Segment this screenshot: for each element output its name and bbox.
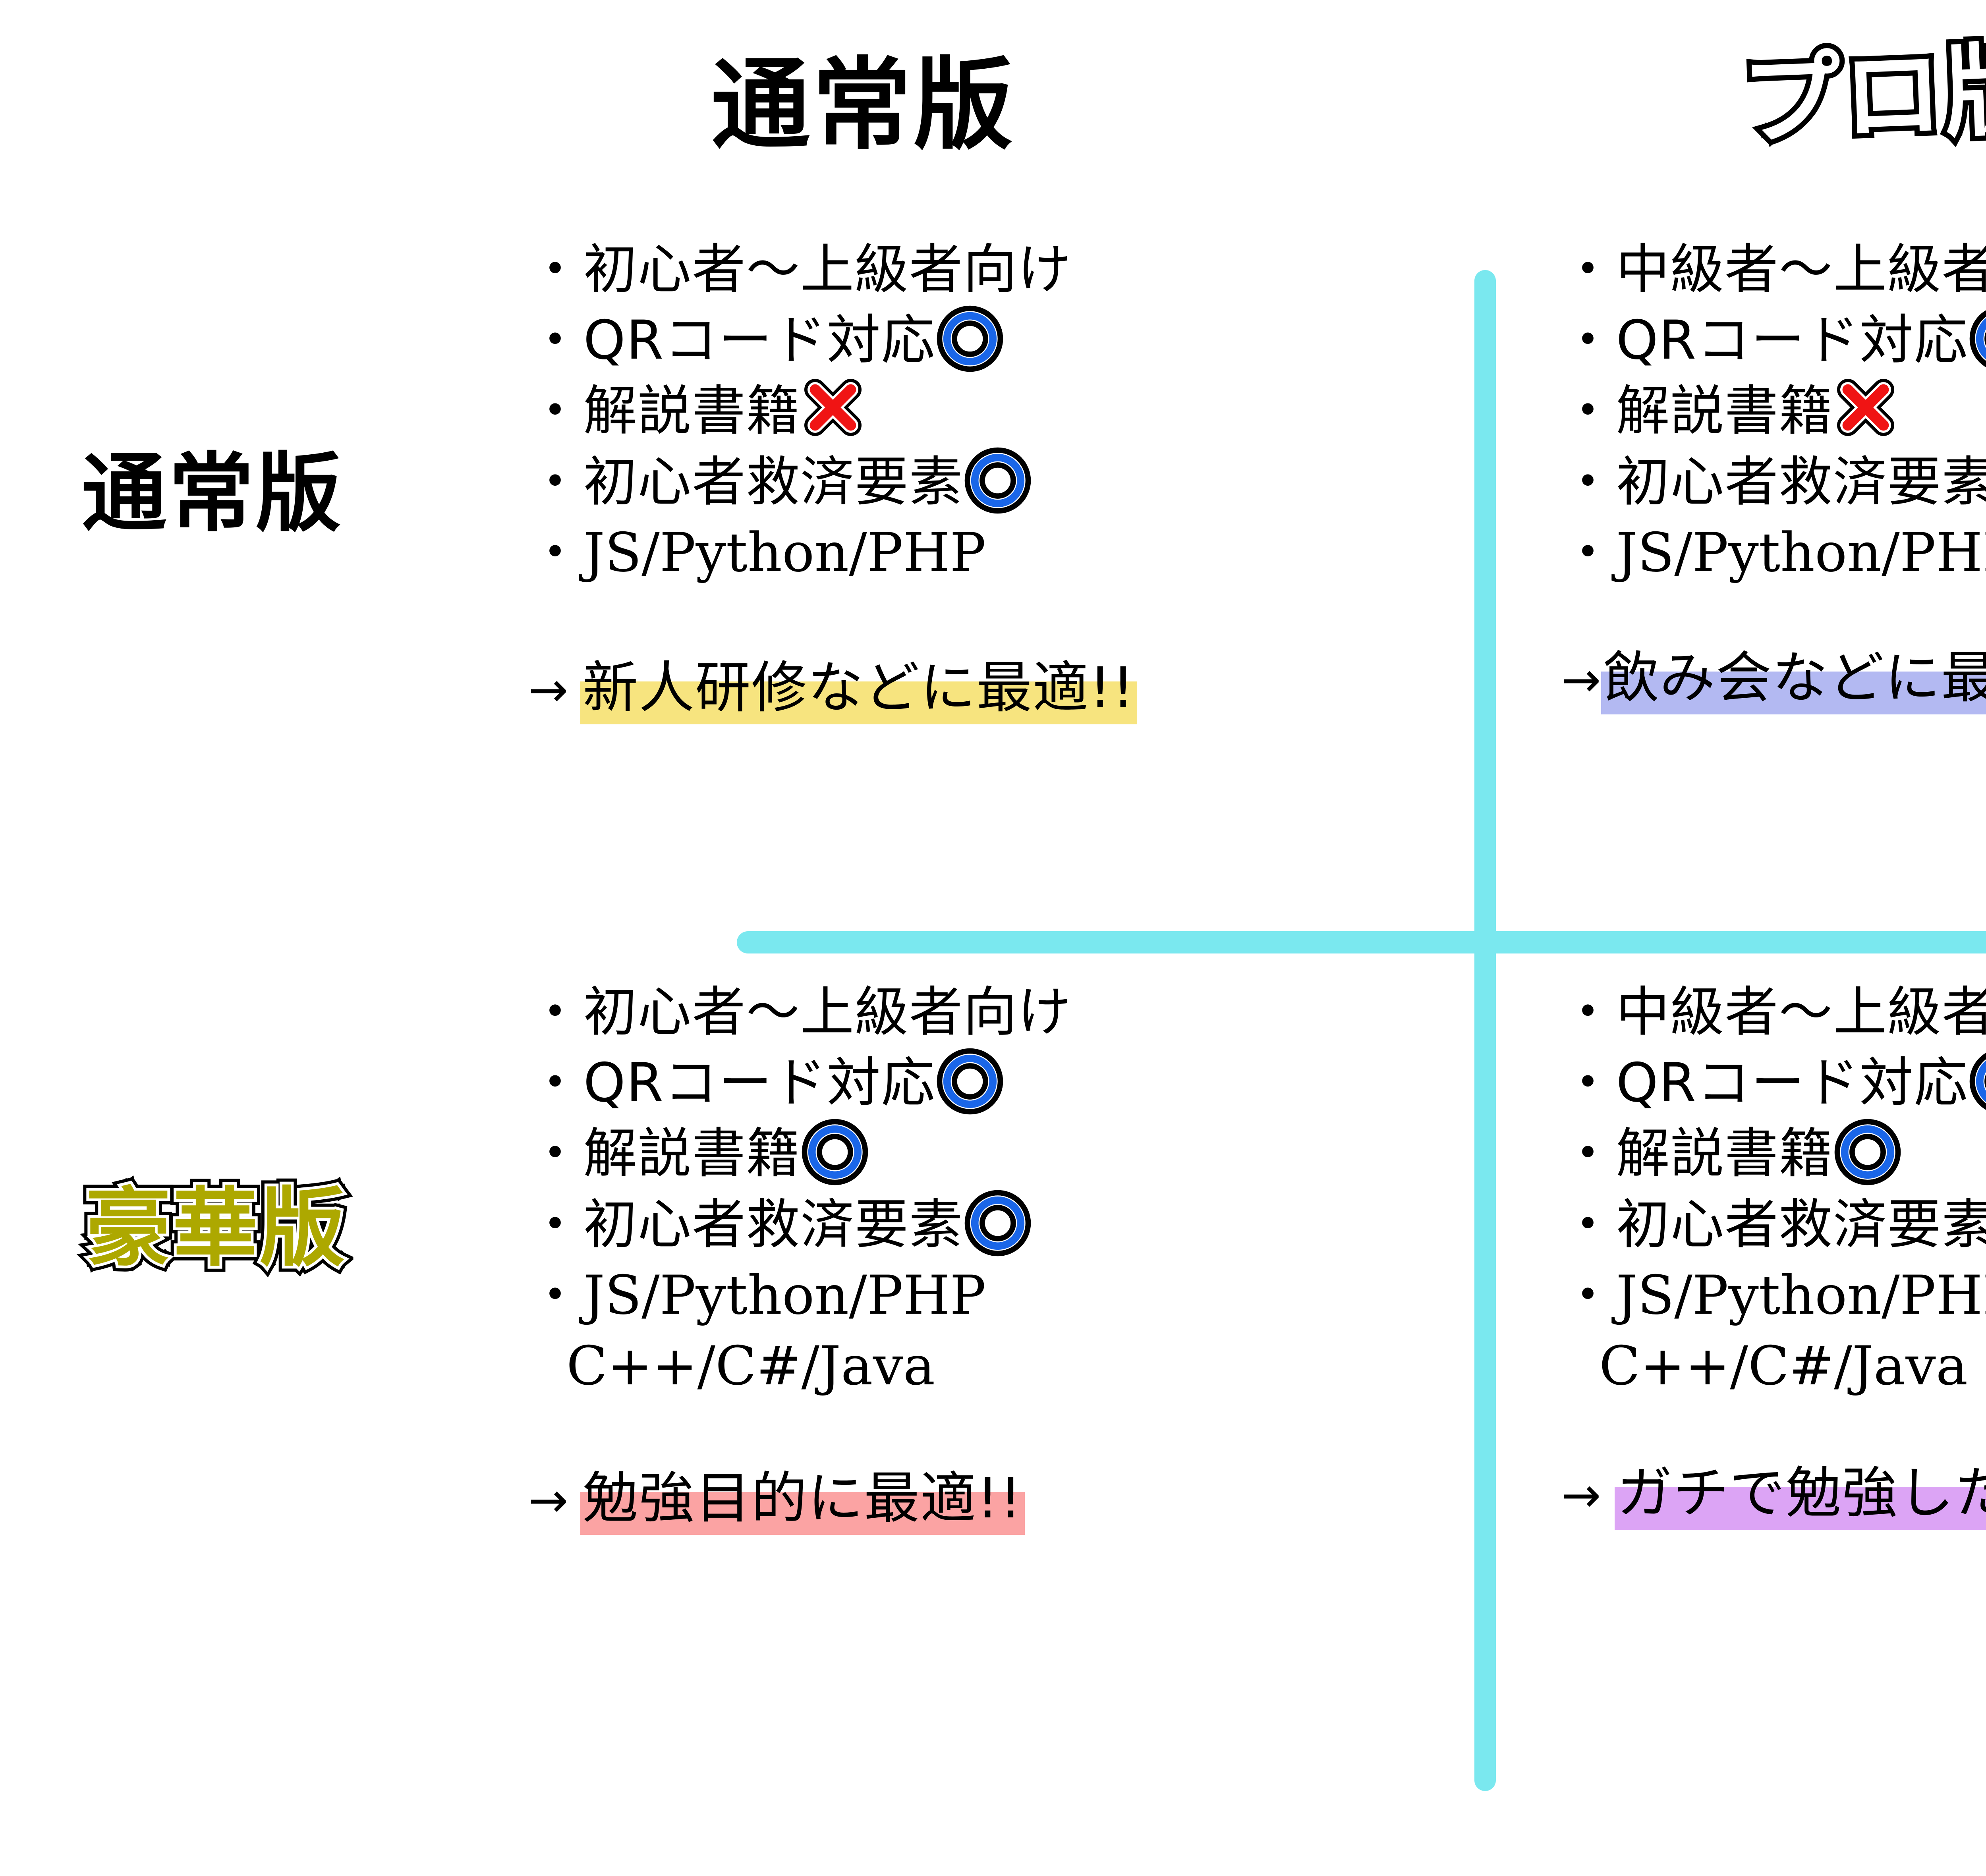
- bullet-dot-icon: ・: [1561, 447, 1615, 517]
- feature-label: QRコード対応: [1616, 305, 1968, 376]
- feature-label: 解説書籍: [583, 376, 800, 446]
- feature-item: ・JS/Python/PHP: [528, 1260, 1454, 1331]
- feature-item: ・初心者救済要素: [1561, 447, 1986, 517]
- feature-item: ・中級者〜上級者向け: [1561, 234, 1986, 305]
- feature-label: QRコード対応: [583, 1048, 935, 1118]
- arrow-right-icon: →: [1561, 652, 1601, 709]
- conclusion-wrapper: →勉強目的に最適!!: [528, 1468, 1454, 1529]
- feature-label: 解説書籍: [1616, 376, 1833, 446]
- feature-label: 初心者救済要素: [583, 447, 963, 517]
- conclusion-line: →勉強目的に最適!!: [528, 1468, 1454, 1529]
- double-circle-icon: [1969, 1048, 1986, 1115]
- arrow-right-icon: →: [528, 1472, 568, 1529]
- vertical-divider: [1474, 270, 1496, 1791]
- feature-sub-label: C++/C#/Java: [1561, 1331, 1986, 1401]
- bullet-dot-icon: ・: [528, 376, 583, 446]
- feature-item: ・解説書籍: [528, 1118, 1454, 1189]
- conclusion-highlight-text: 勉強目的に最適!!: [580, 1468, 1025, 1529]
- row-label-deluxe: 豪華版 豪華版: [85, 1185, 347, 1271]
- feature-item: ・QRコード対応: [1561, 305, 1986, 376]
- feature-item: ・初心者救済要素: [528, 447, 1454, 517]
- conclusion-highlight-text: ガチで勉強したい方に最適!!: [1615, 1463, 1986, 1524]
- quadrant-standard-standard: ・初心者〜上級者向け・QRコード対応 ・解説書籍 ・初心者救済要素 ・JS/Py…: [528, 234, 1454, 719]
- feature-item: ・QRコード対応: [1561, 1048, 1986, 1118]
- conclusion-wrapper: →飲み会などに最適!!: [1561, 648, 1986, 709]
- feature-item: ・初心者救済要素: [528, 1189, 1454, 1260]
- feature-item: ・JS/Python/PHP: [1561, 517, 1986, 588]
- feature-label: 解説書籍: [583, 1118, 800, 1189]
- bullet-dot-icon: ・: [1561, 305, 1615, 376]
- double-circle-icon: [936, 1048, 1004, 1115]
- conclusion-line: →飲み会などに最適!!: [1561, 648, 1986, 709]
- double-circle-icon: [936, 305, 1004, 372]
- feature-list: ・中級者〜上級者向け・QRコード対応 ・解説書籍 ・初心者救済要素 ・JS/Py…: [1561, 234, 1986, 588]
- feature-list: ・初心者〜上級者向け・QRコード対応 ・解説書籍 ・初心者救済要素 ・JS/Py…: [528, 977, 1454, 1331]
- feature-label: 初心者救済要素: [1616, 447, 1986, 517]
- feature-item: ・解説書籍: [1561, 1118, 1986, 1189]
- quadrant-deluxe-standard: ・初心者〜上級者向け・QRコード対応 ・解説書籍 ・初心者救済要素 ・JS/Py…: [528, 977, 1454, 1529]
- row-label-standard: 通常版: [81, 451, 343, 536]
- bullet-dot-icon: ・: [528, 234, 583, 305]
- bullet-dot-icon: ・: [528, 517, 583, 588]
- bullet-dot-icon: ・: [528, 1189, 583, 1260]
- feature-label: 初心者〜上級者向け: [583, 977, 1072, 1048]
- feature-item: ・解説書籍: [528, 376, 1454, 446]
- feature-label: QRコード対応: [583, 305, 935, 376]
- row-label-deluxe-inner: 豪華版: [85, 1185, 347, 1271]
- column-header-standard: 通常版: [711, 56, 1015, 155]
- double-circle-icon: [964, 447, 1032, 514]
- conclusion-highlight-text: 飲み会などに最適!!: [1601, 648, 1986, 709]
- quadrant-standard-pro: ・中級者〜上級者向け・QRコード対応 ・解説書籍 ・初心者救済要素 ・JS/Py…: [1561, 234, 1986, 709]
- feature-item: ・QRコード対応: [528, 305, 1454, 376]
- double-circle-icon: [1969, 305, 1986, 372]
- feature-item: ・JS/Python/PHP: [1561, 1260, 1986, 1331]
- cross-mark-icon: [1834, 376, 1897, 439]
- bullet-dot-icon: ・: [1561, 977, 1615, 1048]
- conclusion-wrapper: →ガチで勉強したい方に最適!!: [1561, 1463, 1986, 1524]
- conclusion-line: →ガチで勉強したい方に最適!!: [1561, 1463, 1986, 1524]
- feature-item: ・解説書籍: [1561, 376, 1986, 446]
- bullet-dot-icon: ・: [1561, 1118, 1615, 1189]
- feature-label: 中級者〜上級者向け: [1616, 977, 1986, 1048]
- feature-label: JS/Python/PHP: [583, 517, 986, 588]
- feature-label: 初心者救済要素: [583, 1189, 963, 1260]
- feature-label: 解説書籍: [1616, 1118, 1833, 1189]
- cross-mark-icon: [801, 376, 865, 439]
- feature-list: ・初心者〜上級者向け・QRコード対応 ・解説書籍 ・初心者救済要素 ・JS/Py…: [528, 234, 1454, 588]
- feature-list: ・中級者〜上級者向け・QRコード対応 ・解説書籍 ・初心者救済要素 ・JS/Py…: [1561, 977, 1986, 1331]
- conclusion-line: →新人研修などに最適!!: [528, 658, 1454, 719]
- feature-label: JS/Python/PHP: [583, 1260, 986, 1331]
- feature-item: ・JS/Python/PHP: [528, 517, 1454, 588]
- bullet-dot-icon: ・: [528, 1118, 583, 1189]
- bullet-dot-icon: ・: [528, 1048, 583, 1118]
- bullet-dot-icon: ・: [528, 447, 583, 517]
- feature-label: QRコード対応: [1616, 1048, 1968, 1118]
- bullet-dot-icon: ・: [1561, 1189, 1615, 1260]
- bullet-dot-icon: ・: [1561, 376, 1615, 446]
- feature-label: JS/Python/PHP: [1616, 1260, 1986, 1331]
- feature-label: 初心者〜上級者向け: [583, 234, 1072, 305]
- double-circle-icon: [964, 1189, 1032, 1257]
- bullet-dot-icon: ・: [528, 977, 583, 1048]
- bullet-dot-icon: ・: [1561, 234, 1615, 305]
- feature-item: ・中級者〜上級者向け: [1561, 977, 1986, 1048]
- feature-sub-label: C++/C#/Java: [528, 1331, 1454, 1401]
- bullet-dot-icon: ・: [528, 305, 583, 376]
- bullet-dot-icon: ・: [1561, 517, 1615, 588]
- feature-item: ・初心者〜上級者向け: [528, 977, 1454, 1048]
- horizontal-divider: [737, 931, 1986, 953]
- feature-item: ・初心者〜上級者向け: [528, 234, 1454, 305]
- column-header-pro: プロ版: [1740, 40, 1986, 151]
- bullet-dot-icon: ・: [1561, 1260, 1615, 1331]
- feature-item: ・初心者救済要素: [1561, 1189, 1986, 1260]
- feature-label: 中級者〜上級者向け: [1616, 234, 1986, 305]
- conclusion-highlight-text: 新人研修などに最適!!: [580, 658, 1138, 719]
- double-circle-icon: [1834, 1118, 1901, 1186]
- arrow-right-icon: →: [528, 662, 568, 719]
- quadrant-deluxe-pro: ・中級者〜上級者向け・QRコード対応 ・解説書籍 ・初心者救済要素 ・JS/Py…: [1561, 977, 1986, 1524]
- conclusion-wrapper: →新人研修などに最適!!: [528, 658, 1454, 719]
- arrow-right-icon: →: [1561, 1467, 1601, 1524]
- feature-label: 初心者救済要素: [1616, 1189, 1986, 1260]
- feature-item: ・QRコード対応: [528, 1048, 1454, 1118]
- double-circle-icon: [801, 1118, 869, 1186]
- feature-label: JS/Python/PHP: [1616, 517, 1986, 588]
- bullet-dot-icon: ・: [1561, 1048, 1615, 1118]
- bullet-dot-icon: ・: [528, 1260, 583, 1331]
